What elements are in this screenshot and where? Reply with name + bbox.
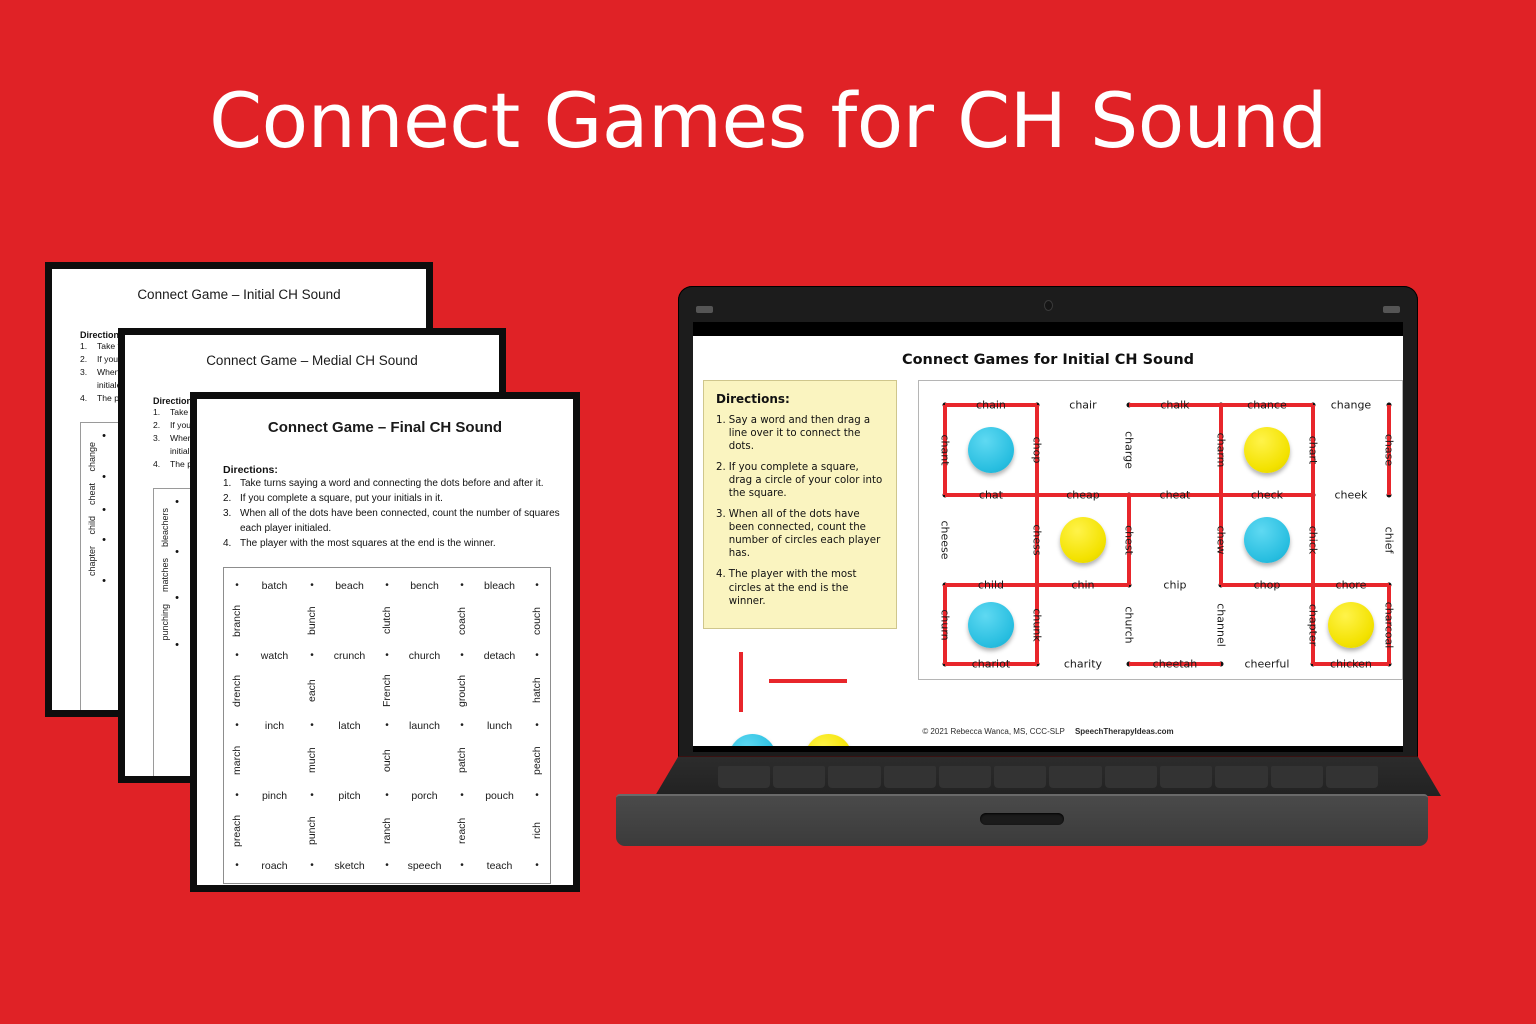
grid-word: launch bbox=[394, 720, 455, 732]
grid-dot: • bbox=[455, 651, 469, 661]
grid-word: each bbox=[305, 666, 319, 715]
grid-word: preach bbox=[230, 806, 244, 855]
grid-word: hatch bbox=[530, 666, 544, 715]
screen-title: Connect Games for Initial CH Sound bbox=[693, 352, 1403, 368]
laptop-mockup: Connect Games for Initial CH Sound Direc… bbox=[608, 286, 1436, 866]
direction-number: 3. bbox=[223, 506, 235, 536]
board-token-cyan[interactable] bbox=[968, 602, 1014, 648]
directions-list: 1.Say a word and then drag a line over i… bbox=[716, 414, 885, 608]
direction-text: The player with the most circles at the … bbox=[729, 568, 885, 607]
grid-dot: • bbox=[230, 861, 244, 871]
paper-title: Connect Game – Final CH Sound bbox=[197, 419, 573, 436]
paper-final-ch: Connect Game – Final CH Sound Directions… bbox=[190, 392, 580, 892]
grid-dot: • bbox=[230, 651, 244, 661]
grid-word: branch bbox=[230, 596, 244, 645]
grid-dot: • bbox=[230, 791, 244, 801]
grid-word: detach bbox=[469, 650, 530, 662]
direction-number: 1. bbox=[223, 476, 235, 491]
direction-item: 4.The player with the most circles at th… bbox=[716, 568, 885, 607]
direction-item: 1.Take turns saying a word and connectin… bbox=[223, 476, 573, 491]
grid-dot: • bbox=[175, 593, 179, 604]
direction-text: The player with the most squares at the … bbox=[240, 536, 496, 551]
board-word: chew bbox=[1214, 526, 1227, 555]
grid-dot: • bbox=[380, 791, 394, 801]
grid-word: coach bbox=[455, 596, 469, 645]
board-token-cyan[interactable] bbox=[968, 427, 1014, 473]
board-token-cyan[interactable] bbox=[1244, 517, 1290, 563]
direction-number: 1. bbox=[153, 406, 165, 419]
direction-text: If you complete a square, put your initi… bbox=[240, 491, 443, 506]
grid-word: reach bbox=[455, 806, 469, 855]
grid-word: porch bbox=[394, 790, 455, 802]
board-word: chant bbox=[938, 434, 951, 465]
direction-number: 1. bbox=[80, 340, 92, 353]
board-word: chore bbox=[1336, 579, 1367, 592]
grid-dot: • bbox=[530, 651, 544, 661]
laptop-base bbox=[616, 794, 1428, 846]
direction-number: 2. bbox=[80, 353, 92, 366]
board-word: chat bbox=[979, 489, 1003, 502]
direction-number: 1. bbox=[716, 414, 726, 453]
grid-dot: • bbox=[102, 505, 106, 516]
direction-number: 3. bbox=[80, 366, 92, 392]
direction-number: 4. bbox=[153, 458, 165, 471]
grid-dot: • bbox=[102, 535, 106, 546]
grid-word: pitch bbox=[319, 790, 380, 802]
grid-row-vertical: drench each French grouch hatch bbox=[230, 666, 544, 715]
grid-row-vertical: march much ouch patch peach bbox=[230, 736, 544, 785]
grid-word: child bbox=[87, 516, 121, 535]
grid-word: pouch bbox=[469, 790, 530, 802]
word-grid-final: • batch • beach • bench • bleach • branc… bbox=[223, 567, 551, 884]
board-word: church bbox=[1122, 606, 1135, 643]
grid-dot: • bbox=[305, 581, 319, 591]
grid-word: batch bbox=[244, 580, 305, 592]
grid-dot: • bbox=[530, 721, 544, 731]
grid-row-vertical: preach punch ranch reach rich bbox=[230, 806, 544, 855]
grid-word: ouch bbox=[380, 736, 394, 785]
grid-word: inch bbox=[244, 720, 305, 732]
grid-word: chapter bbox=[87, 546, 121, 576]
grid-row-vertical: branch bunch clutch coach couch bbox=[230, 596, 544, 645]
board-word: change bbox=[1331, 399, 1371, 412]
direction-item: 2.If you complete a square, put your ini… bbox=[223, 491, 573, 506]
board-word: chain bbox=[976, 399, 1006, 412]
direction-item: 4.The player with the most squares at th… bbox=[223, 536, 573, 551]
vertical-line-tool[interactable] bbox=[739, 652, 743, 712]
board-word: chick bbox=[1306, 526, 1319, 555]
grid-column: • change • cheat • child • chapter • bbox=[87, 431, 121, 717]
grid-word: cheat bbox=[87, 483, 121, 505]
lid-tab-left bbox=[696, 306, 713, 313]
grid-word: sketch bbox=[319, 860, 380, 872]
board-word: churn bbox=[938, 609, 951, 640]
grid-dot: • bbox=[455, 791, 469, 801]
grid-word: lunch bbox=[469, 720, 530, 732]
board-token-yellow[interactable] bbox=[1328, 602, 1374, 648]
directions-block: Directions: 1.Take turns saying a word a… bbox=[223, 464, 573, 551]
grid-row-horizontal: • pinch • pitch • porch • pouch • bbox=[230, 785, 544, 806]
grid-dot: • bbox=[230, 721, 244, 731]
grid-word: crunch bbox=[319, 650, 380, 662]
screen-footer: © 2021 Rebecca Wanca, MS, CCC-SLP Speech… bbox=[693, 727, 1403, 736]
grid-word: clutch bbox=[380, 596, 394, 645]
game-board[interactable]: chain chair chalk chance change chat che… bbox=[918, 380, 1403, 680]
grid-word: change bbox=[87, 442, 121, 472]
grid-dot: • bbox=[305, 861, 319, 871]
board-word: chase bbox=[1382, 434, 1395, 466]
grid-dot: • bbox=[455, 721, 469, 731]
direction-text: If you complete a square, drag a circle … bbox=[729, 461, 885, 500]
direction-item: 3.When all of the dots have been connect… bbox=[716, 508, 885, 560]
board-word: chop bbox=[1030, 437, 1043, 464]
directions-list: 1.Take turns saying a word and connectin… bbox=[223, 476, 573, 551]
grid-row-horizontal: • inch • latch • launch • lunch • bbox=[230, 715, 544, 736]
grid-word: roach bbox=[244, 860, 305, 872]
board-word: cheetah bbox=[1153, 658, 1198, 671]
direction-number: 4. bbox=[223, 536, 235, 551]
laptop-keyboard-deck bbox=[655, 756, 1441, 796]
grid-row-horizontal: • batch • beach • bench • bleach • bbox=[230, 575, 544, 596]
direction-number: 2. bbox=[223, 491, 235, 506]
direction-text: Take turns saying a word and connecting … bbox=[240, 476, 544, 491]
grid-row-horizontal: • roach • sketch • speech • teach • bbox=[230, 855, 544, 876]
grid-word: couch bbox=[530, 596, 544, 645]
grid-word: bleachers bbox=[160, 508, 194, 547]
grid-word: bunch bbox=[305, 596, 319, 645]
directions-card: Directions: 1.Say a word and then drag a… bbox=[703, 380, 897, 629]
board-word: cheap bbox=[1066, 489, 1100, 502]
board-word: cheese bbox=[938, 520, 951, 559]
grid-word: peach bbox=[530, 736, 544, 785]
grid-word: latch bbox=[319, 720, 380, 732]
board-word: charge bbox=[1122, 431, 1135, 469]
horizontal-line-tool[interactable] bbox=[769, 679, 847, 683]
webcam-icon bbox=[1044, 300, 1053, 311]
grid-word: beach bbox=[319, 580, 380, 592]
grid-dot: • bbox=[530, 581, 544, 591]
footer-site-link[interactable]: SpeechTherapyIdeas.com bbox=[1075, 727, 1174, 736]
grid-word: pinch bbox=[244, 790, 305, 802]
paper-title: Connect Game – Initial CH Sound bbox=[52, 287, 426, 302]
grid-word: bench bbox=[394, 580, 455, 592]
direction-number: 2. bbox=[716, 461, 726, 500]
board-word: chunk bbox=[1030, 608, 1043, 641]
board-word: channel bbox=[1214, 603, 1227, 647]
board-word: cheat bbox=[1160, 489, 1191, 502]
grid-word: drench bbox=[230, 666, 244, 715]
grid-dot: • bbox=[305, 651, 319, 661]
grid-word: punch bbox=[305, 806, 319, 855]
grid-word: punching bbox=[160, 604, 194, 641]
grid-word: church bbox=[394, 650, 455, 662]
grid-dot: • bbox=[530, 791, 544, 801]
grid-dot: • bbox=[380, 861, 394, 871]
grid-word: watch bbox=[244, 650, 305, 662]
board-word: chicken bbox=[1330, 658, 1372, 671]
grid-word: French bbox=[380, 666, 394, 715]
grid-dot: • bbox=[175, 547, 179, 558]
direction-text: When all of the dots have been connected… bbox=[240, 506, 573, 536]
grid-dot: • bbox=[305, 791, 319, 801]
grid-word: grouch bbox=[455, 666, 469, 715]
direction-number: 4. bbox=[716, 568, 726, 607]
grid-dot: • bbox=[455, 581, 469, 591]
direction-item: 3.When all of the dots have been connect… bbox=[223, 506, 573, 536]
board-word: chest bbox=[1122, 525, 1135, 555]
grid-word: ranch bbox=[380, 806, 394, 855]
board-word: chin bbox=[1071, 579, 1094, 592]
grid-row-horizontal: • watch • crunch • church • detach • bbox=[230, 645, 544, 666]
direction-text: Say a word and then drag a line over it … bbox=[729, 414, 885, 453]
board-word: chip bbox=[1163, 579, 1186, 592]
footer-copyright: © 2021 Rebecca Wanca, MS, CCC-SLP bbox=[922, 727, 1064, 736]
grid-word: teach bbox=[469, 860, 530, 872]
paper-title: Connect Game – Medial CH Sound bbox=[125, 353, 499, 368]
board-word: chief bbox=[1382, 527, 1395, 554]
grid-dot: • bbox=[102, 472, 106, 483]
direction-number: 3. bbox=[716, 508, 726, 560]
grid-dot: • bbox=[175, 497, 179, 508]
grid-word: march bbox=[230, 736, 244, 785]
base-notch bbox=[980, 813, 1064, 825]
page-title: Connect Games for CH Sound bbox=[0, 76, 1536, 165]
board-word: chart bbox=[1306, 436, 1319, 465]
direction-number: 2. bbox=[153, 419, 165, 432]
keyboard-row bbox=[718, 766, 1378, 788]
board-word: chariot bbox=[972, 658, 1010, 671]
grid-column: • bleachers • matches • punching • bbox=[160, 497, 194, 783]
grid-dot: • bbox=[230, 581, 244, 591]
board-word: check bbox=[1251, 489, 1283, 502]
grid-dot: • bbox=[102, 431, 106, 442]
board-word: chair bbox=[1069, 399, 1096, 412]
grid-dot: • bbox=[530, 861, 544, 871]
directions-heading: Directions: bbox=[716, 392, 885, 406]
grid-word: rich bbox=[530, 806, 544, 855]
grid-dot: • bbox=[380, 651, 394, 661]
board-token-yellow[interactable] bbox=[1060, 517, 1106, 563]
grid-word: matches bbox=[160, 558, 194, 592]
grid-word: patch bbox=[455, 736, 469, 785]
laptop-screen: Connect Games for Initial CH Sound Direc… bbox=[693, 336, 1403, 746]
board-word: chapter bbox=[1306, 604, 1319, 646]
board-word: charity bbox=[1064, 658, 1102, 671]
board-word: chance bbox=[1247, 399, 1287, 412]
lid-tab-right bbox=[1383, 306, 1400, 313]
direction-item: 1.Say a word and then drag a line over i… bbox=[716, 414, 885, 453]
direction-item: 2.If you complete a square, drag a circl… bbox=[716, 461, 885, 500]
grid-word: much bbox=[305, 736, 319, 785]
direction-text: When all of the dots have been connected… bbox=[729, 508, 885, 560]
laptop-lid: Connect Games for Initial CH Sound Direc… bbox=[678, 286, 1418, 764]
grid-dot: • bbox=[102, 576, 106, 587]
board-word: charcoal bbox=[1382, 602, 1395, 649]
board-token-yellow[interactable] bbox=[1244, 427, 1290, 473]
board-word: chop bbox=[1254, 579, 1281, 592]
board-word: child bbox=[978, 579, 1004, 592]
board-word: charm bbox=[1214, 433, 1227, 468]
grid-dot: • bbox=[305, 721, 319, 731]
directions-heading: Directions: bbox=[223, 464, 573, 476]
direction-number: 4. bbox=[80, 392, 92, 405]
grid-word: speech bbox=[394, 860, 455, 872]
board-word: cheek bbox=[1334, 489, 1367, 502]
grid-dot: • bbox=[380, 721, 394, 731]
board-word: chess bbox=[1030, 524, 1043, 555]
grid-word: bleach bbox=[469, 580, 530, 592]
grid-dot: • bbox=[455, 861, 469, 871]
grid-dot: • bbox=[380, 581, 394, 591]
grid-dot: • bbox=[175, 640, 179, 651]
board-word: cheerful bbox=[1244, 658, 1289, 671]
board-word: chalk bbox=[1160, 399, 1189, 412]
direction-number: 3. bbox=[153, 432, 165, 458]
